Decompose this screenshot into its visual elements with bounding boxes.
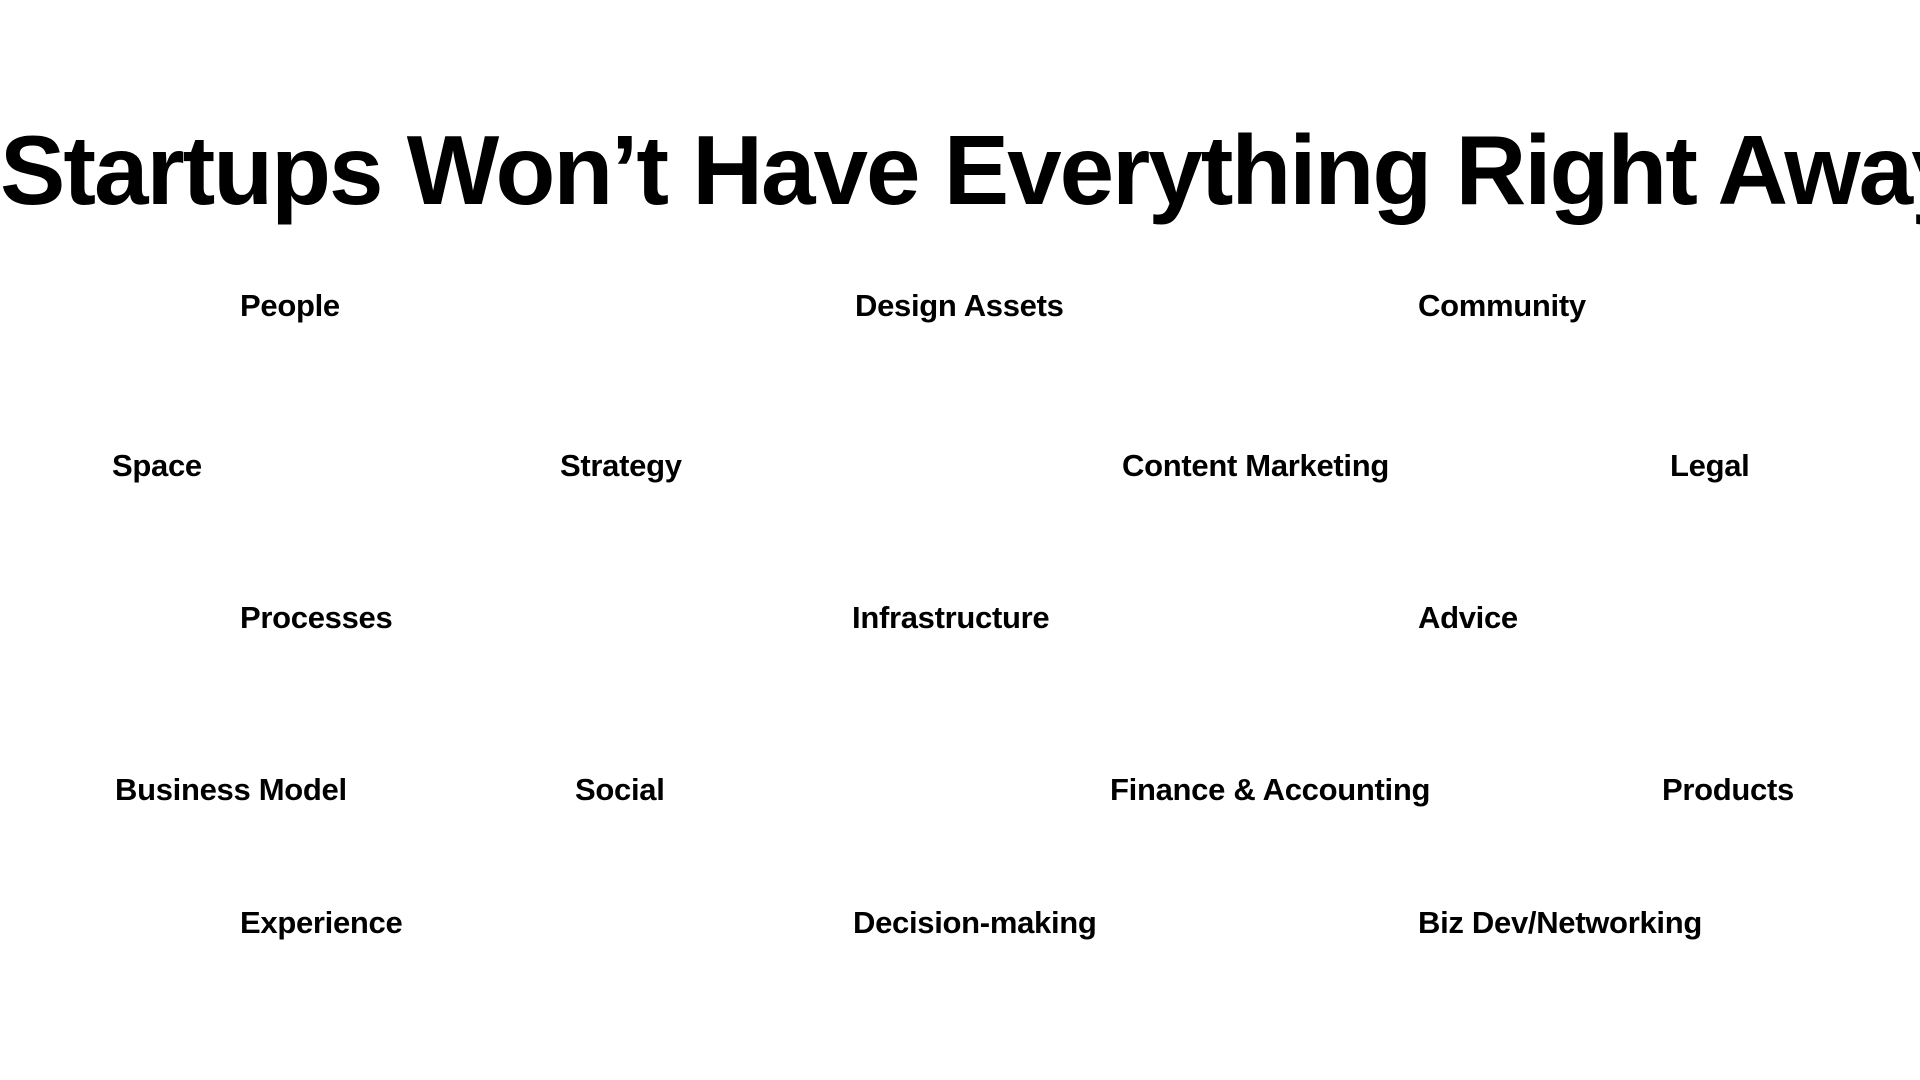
- keyword-label: Legal: [1670, 450, 1749, 481]
- keyword-label: Space: [112, 450, 202, 481]
- keyword-label: Design Assets: [855, 290, 1064, 321]
- keyword-label: Business Model: [115, 774, 347, 805]
- keyword-label: Community: [1418, 290, 1586, 321]
- slide-canvas: Startups Won’t Have Everything Right Awa…: [0, 0, 1920, 1080]
- keyword-label: Finance & Accounting: [1110, 774, 1430, 805]
- keyword-label: Products: [1662, 774, 1794, 805]
- keyword-label: Strategy: [560, 450, 682, 481]
- keyword-label: Biz Dev/Networking: [1418, 907, 1702, 938]
- keyword-label: Social: [575, 774, 665, 805]
- keyword-label: Processes: [240, 602, 392, 633]
- keyword-label: Content Marketing: [1122, 450, 1389, 481]
- keyword-label: Advice: [1418, 602, 1518, 633]
- keyword-label: Decision-making: [853, 907, 1097, 938]
- keyword-label: Experience: [240, 907, 402, 938]
- keyword-cloud: PeopleDesign AssetsCommunitySpaceStrateg…: [0, 0, 1920, 1080]
- keyword-label: People: [240, 290, 340, 321]
- keyword-label: Infrastructure: [852, 602, 1049, 633]
